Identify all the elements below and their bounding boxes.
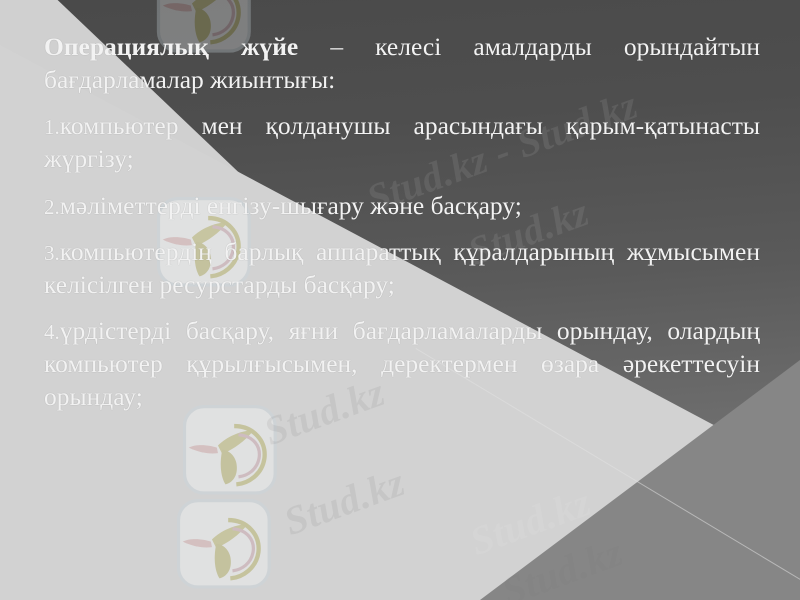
list-item-text: компьютердің барлық аппараттық құралдары… (44, 237, 760, 299)
definition-paragraph: Операциялық жүйе – келесі амалдарды орын… (44, 30, 760, 96)
list-item-number: 4. (44, 320, 60, 344)
slide-canvas: Stud.kz - Stud.kz Stud.kz Stud.kz Stud.k… (0, 0, 800, 600)
list-item: 4.үрдістерді басқару, яғни бағдарламалар… (44, 314, 760, 413)
list-item-number: 3. (44, 241, 60, 265)
list-item-text: үрдістерді басқару, яғни бағдарламаларды… (44, 316, 760, 411)
list-item-text: компьютер мен қолданушы арасындағы қарым… (44, 111, 760, 173)
list-item: 1.компьютер мен қолданушы арасындағы қар… (44, 109, 760, 175)
list-item-text: мәліметтерді енгізу-шығару және басқару; (60, 191, 522, 220)
list-item: 3.компьютердің барлық аппараттық құралда… (44, 235, 760, 301)
list-item-number: 2. (44, 195, 60, 219)
definition-term: Операциялық жүйе (44, 32, 298, 61)
definition-dash: – (330, 32, 343, 61)
list-item-number: 1. (44, 115, 60, 139)
list-item: 2.мәліметтерді енгізу-шығару және басқар… (44, 189, 760, 222)
slide-text-content: Операциялық жүйе – келесі амалдарды орын… (44, 30, 760, 413)
